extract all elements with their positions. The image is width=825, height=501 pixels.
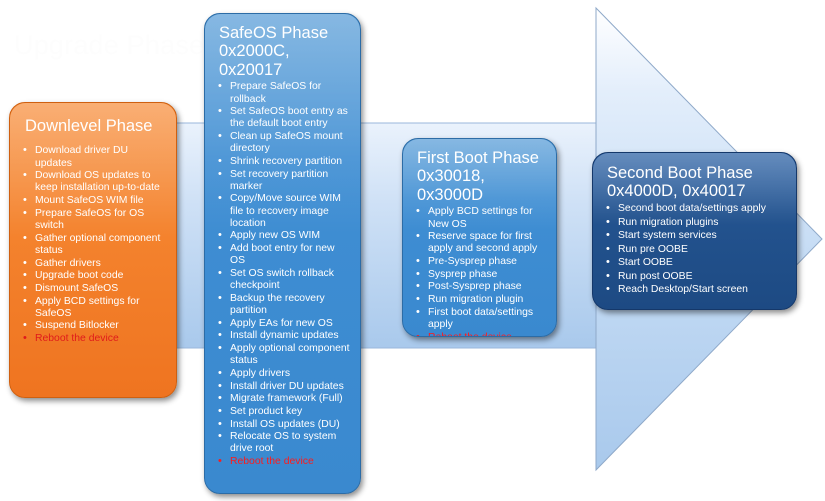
phase-title-firstboot: First Boot Phase 0x30018, 0x3000D	[415, 147, 547, 205]
phase-code: 0x2000C, 0x20017	[219, 42, 351, 79]
phase-title-downlevel: Downlevel Phase	[22, 111, 167, 144]
phase-step: Suspend Bitlocker	[22, 320, 167, 332]
phase-step: Mount SafeOS WIM file	[22, 195, 167, 207]
phase-step: Upgrade boot code	[22, 270, 167, 282]
phase-step: Migrate framework (Full)	[217, 393, 351, 405]
phase-step: Post-Sysprep phase	[415, 281, 547, 293]
phase-step: Start OOBE	[605, 257, 787, 269]
phase-step-reboot: Reboot the device	[22, 333, 167, 345]
phase-step: Set SafeOS boot entry as the default boo…	[217, 106, 351, 130]
phase-step: Relocate OS to system drive root	[217, 431, 351, 455]
phase-step: Set recovery partition marker	[217, 169, 351, 193]
phase-step: Install driver DU updates	[217, 381, 351, 393]
phase-step: Run migration plugins	[605, 217, 787, 229]
phase-step: Reserve space for first apply and second…	[415, 231, 547, 255]
phase-step: Set product key	[217, 406, 351, 418]
phase-step: Prepare SafeOS for rollback	[217, 81, 351, 105]
phase-step-list: Download driver DU updatesDownload OS up…	[22, 145, 167, 345]
phase-title-text: Downlevel Phase	[25, 117, 153, 135]
phase-step-reboot: Reboot the device	[217, 456, 351, 468]
phase-step: Prepare SafeOS for OS switch	[22, 208, 167, 232]
phase-step: Apply drivers	[217, 368, 351, 380]
phase-step: Apply new OS WIM	[217, 230, 351, 242]
phase-card-safeos[interactable]: SafeOS Phase 0x2000C, 0x20017 Prepare Sa…	[204, 13, 361, 494]
phase-step: Set OS switch rollback checkpoint	[217, 268, 351, 292]
phase-step: Apply EAs for new OS	[217, 318, 351, 330]
phase-step: Run post OOBE	[605, 271, 787, 283]
phase-card-secondboot[interactable]: Second Boot Phase 0x4000D, 0x40017 Secon…	[592, 152, 797, 310]
phase-step: Backup the recovery partition	[217, 293, 351, 317]
phase-code: 0x30018, 0x3000D	[417, 167, 547, 204]
phase-step: Pre-Sysprep phase	[415, 256, 547, 268]
phase-title-text: First Boot Phase	[417, 149, 539, 167]
phase-title-safeos: SafeOS Phase 0x2000C, 0x20017	[217, 22, 351, 80]
phase-step: Reach Desktop/Start screen	[605, 284, 787, 296]
phase-step: Copy/Move source WIM file to recovery im…	[217, 193, 351, 230]
phase-title-text: SafeOS Phase	[219, 24, 328, 42]
phase-step: Clean up SafeOS mount directory	[217, 131, 351, 155]
phase-step: Second boot data/settings apply	[605, 203, 787, 215]
diagram-canvas: Upgrade Phases Downlevel Phase Download …	[0, 0, 825, 501]
phase-step: First boot data/settings apply	[415, 307, 547, 331]
phase-step: Download OS updates to keep installation…	[22, 170, 167, 194]
phase-step: Apply BCD settings for SafeOS	[22, 296, 167, 320]
phase-step: Sysprep phase	[415, 269, 547, 281]
phase-title-text: Second Boot Phase	[607, 164, 753, 182]
phase-step-reboot: Reboot the device	[415, 332, 547, 337]
phase-step: Download driver DU updates	[22, 145, 167, 169]
phase-step: Start system services	[605, 230, 787, 242]
phase-step-list: Prepare SafeOS for rollbackSet SafeOS bo…	[217, 81, 351, 468]
phase-step: Apply optional component status	[217, 343, 351, 367]
phase-step: Dismount SafeOS	[22, 283, 167, 295]
phase-step: Gather optional component status	[22, 233, 167, 257]
phase-step-list: Second boot data/settings applyRun migra…	[605, 203, 787, 297]
page-title: Upgrade Phases	[14, 30, 218, 61]
phase-step: Install OS updates (DU)	[217, 419, 351, 431]
phase-card-downlevel[interactable]: Downlevel Phase Download driver DU updat…	[9, 102, 177, 398]
phase-card-firstboot[interactable]: First Boot Phase 0x30018, 0x3000D Apply …	[402, 138, 557, 337]
phase-code: 0x4000D, 0x40017	[607, 182, 787, 200]
phase-step: Apply BCD settings for New OS	[415, 206, 547, 230]
phase-step: Shrink recovery partition	[217, 156, 351, 168]
phase-step: Run pre OOBE	[605, 244, 787, 256]
phase-step: Install dynamic updates	[217, 330, 351, 342]
phase-step-list: Apply BCD settings for New OSReserve spa…	[415, 206, 547, 337]
phase-step: Run migration plugin	[415, 294, 547, 306]
phase-title-secondboot: Second Boot Phase 0x4000D, 0x40017	[605, 161, 787, 202]
phase-step: Add boot entry for new OS	[217, 243, 351, 267]
phase-step: Gather drivers	[22, 258, 167, 270]
